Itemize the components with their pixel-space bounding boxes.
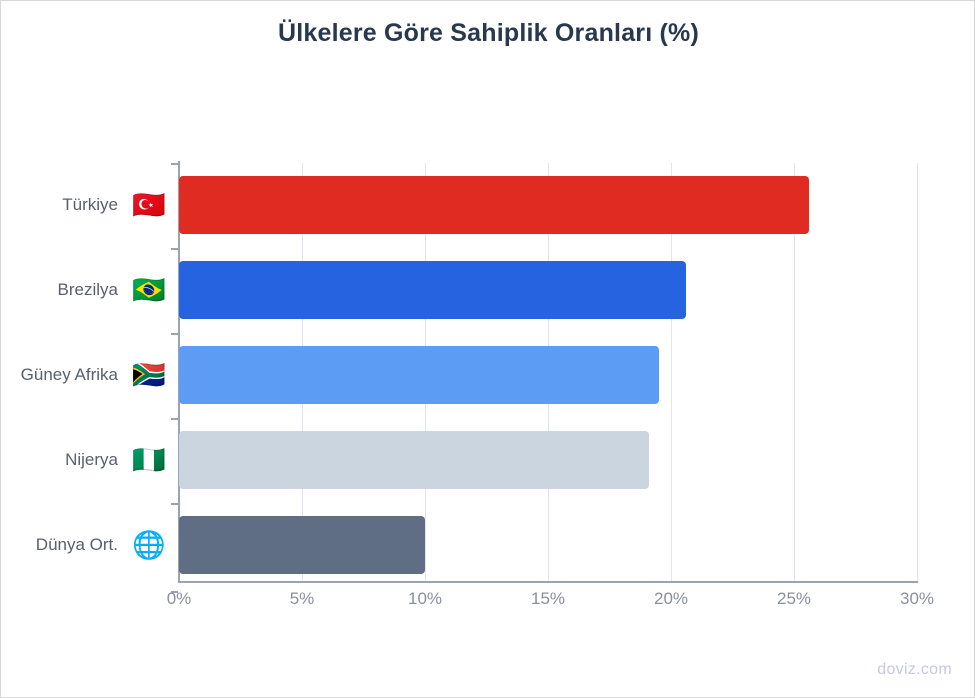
- chart-title: Ülkelere Göre Sahiplik Oranları (%): [1, 19, 975, 48]
- x-tick-label: 20%: [631, 589, 711, 609]
- category-label: Nijerya: [65, 450, 118, 470]
- y-tick-mark: [171, 503, 179, 505]
- x-tick-label: 5%: [262, 589, 342, 609]
- category-row: Türkiye🇹🇷: [1, 176, 173, 234]
- flag-turkey: 🇹🇷: [127, 192, 171, 219]
- bar-brazil[interactable]: [179, 261, 686, 319]
- x-tick-label: 25%: [754, 589, 834, 609]
- flag-nigeria: 🇳🇬: [127, 447, 171, 474]
- category-row: Brezilya🇧🇷: [1, 261, 173, 319]
- x-tick-label: 10%: [385, 589, 465, 609]
- category-label: Brezilya: [58, 280, 118, 300]
- bar-nigeria[interactable]: [179, 431, 649, 489]
- y-tick-mark: [171, 418, 179, 420]
- category-label: Dünya Ort.: [36, 535, 118, 555]
- globe-icon: 🌐: [127, 532, 171, 559]
- category-label: Güney Afrika: [21, 365, 118, 385]
- bar-turkey[interactable]: [179, 176, 809, 234]
- category-label: Türkiye: [62, 195, 118, 215]
- x-tick-label: 0%: [139, 589, 219, 609]
- gridline: [917, 163, 918, 581]
- y-tick-mark: [171, 248, 179, 250]
- bar-south-africa[interactable]: [179, 346, 659, 404]
- category-row: Güney Afrika🇿🇦: [1, 346, 173, 404]
- x-axis-line: [178, 581, 918, 583]
- chart-container: Ülkelere Göre Sahiplik Oranları (%) Türk…: [0, 0, 975, 698]
- flag-south-africa: 🇿🇦: [127, 362, 171, 389]
- category-row: Dünya Ort.🌐: [1, 516, 173, 574]
- x-tick-label: 30%: [877, 589, 957, 609]
- x-tick-label: 15%: [508, 589, 588, 609]
- watermark: doviz.com: [877, 661, 952, 679]
- y-tick-mark: [171, 333, 179, 335]
- flag-brazil: 🇧🇷: [127, 277, 171, 304]
- bar-globe[interactable]: [179, 516, 425, 574]
- category-row: Nijerya🇳🇬: [1, 431, 173, 489]
- axis-end-cap: [171, 163, 178, 165]
